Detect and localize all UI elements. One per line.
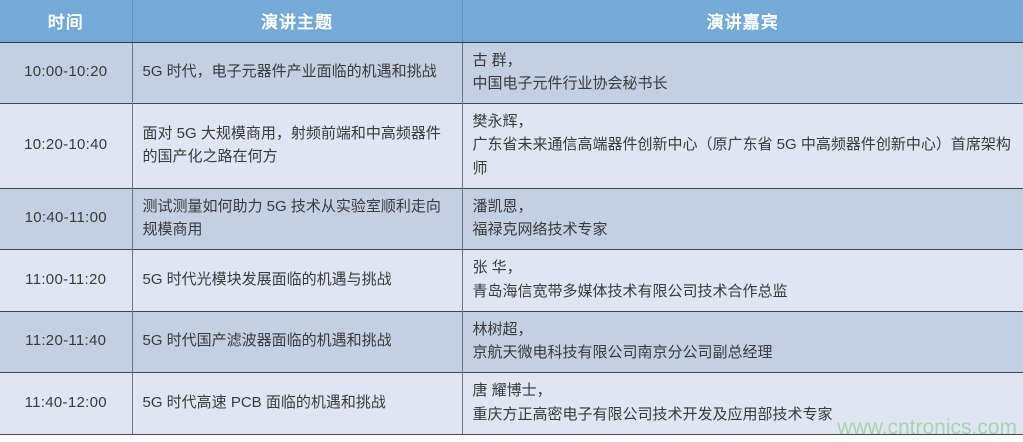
column-header-time: 时间 — [0, 0, 132, 42]
table-row: 10:20-10:40 面对 5G 大规模商用，射频前端和中高频器件的国产化之路… — [0, 104, 1023, 189]
guest-name: 张 华， — [473, 256, 1014, 279]
guest-title: 福禄克网络技术专家 — [473, 218, 1014, 241]
column-header-topic: 演讲主题 — [132, 0, 462, 42]
cell-guest: 樊永辉， 广东省未来通信高端器件创新中心（原广东省 5G 中高频器件创新中心）首… — [462, 104, 1023, 189]
table-row: 10:00-10:20 5G 时代，电子元器件产业面临的机遇和挑战 古 群， 中… — [0, 42, 1023, 104]
table-row: 11:20-11:40 5G 时代国产滤波器面临的机遇和挑战 林树超， 京航天微… — [0, 311, 1023, 373]
cell-topic: 面对 5G 大规模商用，射频前端和中高频器件的国产化之路在何方 — [132, 104, 462, 189]
table-row: 10:40-11:00 测试测量如何助力 5G 技术从实验室顺利走向规模商用 潘… — [0, 188, 1023, 250]
conference-schedule-table: 时间 演讲主题 演讲嘉宾 10:00-10:20 5G 时代，电子元器件产业面临… — [0, 0, 1023, 435]
cell-time: 11:00-11:20 — [0, 250, 132, 312]
column-header-guest: 演讲嘉宾 — [462, 0, 1023, 42]
guest-name: 唐 耀博士， — [473, 379, 1014, 402]
cell-guest: 林树超， 京航天微电科技有限公司南京分公司副总经理 — [462, 311, 1023, 373]
cell-guest: 唐 耀博士， 重庆方正高密电子有限公司技术开发及应用部技术专家 — [462, 373, 1023, 435]
cell-guest: 张 华， 青岛海信宽带多媒体技术有限公司技术合作总监 — [462, 250, 1023, 312]
guest-name: 潘凯恩， — [473, 195, 1014, 218]
cell-topic: 5G 时代，电子元器件产业面临的机遇和挑战 — [132, 42, 462, 104]
guest-title: 广东省未来通信高端器件创新中心（原广东省 5G 中高频器件创新中心）首席架构师 — [473, 133, 1014, 180]
cell-time: 10:40-11:00 — [0, 188, 132, 250]
guest-title: 中国电子元件行业协会秘书长 — [473, 72, 1014, 95]
guest-title: 重庆方正高密电子有限公司技术开发及应用部技术专家 — [473, 403, 1014, 426]
cell-topic: 5G 时代高速 PCB 面临的机遇和挑战 — [132, 373, 462, 435]
cell-topic: 测试测量如何助力 5G 技术从实验室顺利走向规模商用 — [132, 188, 462, 250]
header-row: 时间 演讲主题 演讲嘉宾 — [0, 0, 1023, 42]
table-row: 11:40-12:00 5G 时代高速 PCB 面临的机遇和挑战 唐 耀博士， … — [0, 373, 1023, 435]
cell-topic: 5G 时代国产滤波器面临的机遇和挑战 — [132, 311, 462, 373]
guest-title: 青岛海信宽带多媒体技术有限公司技术合作总监 — [473, 280, 1014, 303]
cell-guest: 古 群， 中国电子元件行业协会秘书长 — [462, 42, 1023, 104]
guest-title: 京航天微电科技有限公司南京分公司副总经理 — [473, 341, 1014, 364]
table-body: 10:00-10:20 5G 时代，电子元器件产业面临的机遇和挑战 古 群， 中… — [0, 42, 1023, 434]
cell-time: 11:40-12:00 — [0, 373, 132, 435]
cell-time: 10:00-10:20 — [0, 42, 132, 104]
guest-name: 古 群， — [473, 49, 1014, 72]
cell-topic: 5G 时代光模块发展面临的机遇与挑战 — [132, 250, 462, 312]
guest-name: 樊永辉， — [473, 110, 1014, 133]
cell-guest: 潘凯恩， 福禄克网络技术专家 — [462, 188, 1023, 250]
table-header: 时间 演讲主题 演讲嘉宾 — [0, 0, 1023, 42]
cell-time: 11:20-11:40 — [0, 311, 132, 373]
guest-name: 林树超， — [473, 318, 1014, 341]
table-row: 11:00-11:20 5G 时代光模块发展面临的机遇与挑战 张 华， 青岛海信… — [0, 250, 1023, 312]
schedule-table-container: 时间 演讲主题 演讲嘉宾 10:00-10:20 5G 时代，电子元器件产业面临… — [0, 0, 1023, 442]
cell-time: 10:20-10:40 — [0, 104, 132, 189]
